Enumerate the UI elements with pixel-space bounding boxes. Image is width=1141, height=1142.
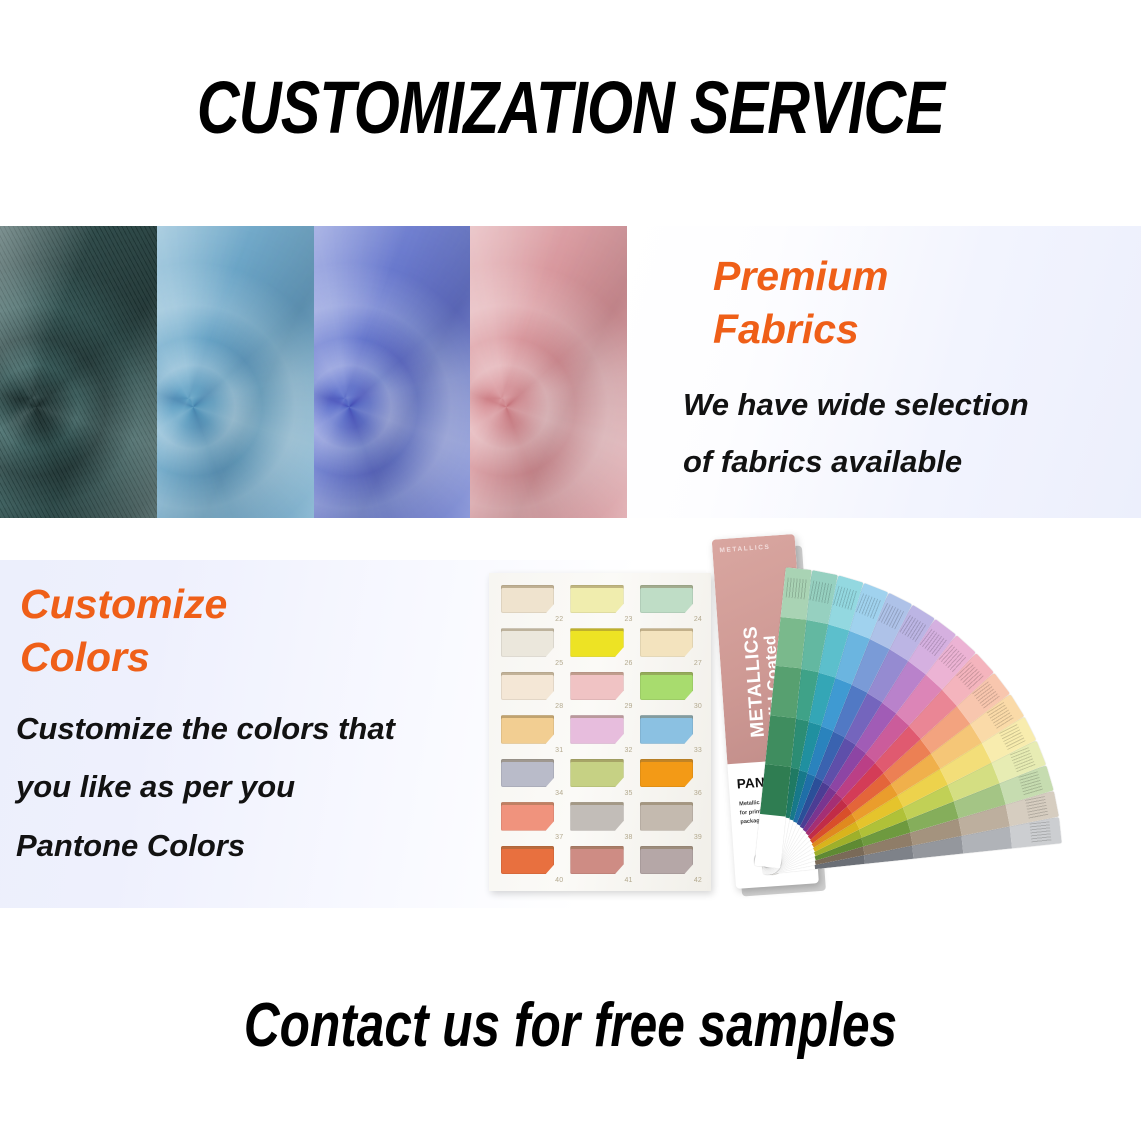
premium-fabrics-description-line2: of fabrics available [683, 433, 1133, 490]
color-chip-29: 29 [568, 670, 632, 709]
fan-deck-color-band [760, 765, 791, 817]
color-chip-number: 32 [624, 747, 632, 754]
color-chip-26: 26 [568, 626, 632, 665]
color-chip-39: 39 [638, 800, 702, 839]
color-chip-37: 37 [499, 800, 563, 839]
color-chip-swatch [640, 585, 693, 613]
fan-deck-color-band [770, 666, 801, 718]
color-chip-swatch [570, 802, 623, 830]
color-chip-36: 36 [638, 757, 702, 796]
color-chip-swatch [570, 715, 623, 743]
premium-fabrics-heading: Premium Fabrics [713, 250, 1133, 356]
page-title: CUSTOMIZATION SERVICE [114, 62, 1027, 152]
color-chip-34: 34 [499, 757, 563, 796]
color-chip-swatch [640, 759, 693, 787]
customize-colors-heading-line2: Colors [20, 631, 440, 684]
color-chip-swatch [570, 672, 623, 700]
color-chip-swatch [640, 715, 693, 743]
color-chip-number: 26 [624, 660, 632, 667]
customize-colors-description-line3: Pantone Colors [16, 817, 486, 875]
fan-deck-blade-code-text [1025, 796, 1049, 820]
color-chip-number: 34 [555, 790, 563, 797]
color-chip-swatch [501, 672, 554, 700]
color-chip-swatch [640, 846, 693, 874]
color-chip-swatch [640, 802, 693, 830]
color-chip-swatch [501, 802, 554, 830]
customize-colors-description-line2: you like as per you [16, 758, 486, 816]
fabric-photo-strip [0, 226, 627, 518]
pantone-fan-deck: METALLICS METALLICS Solid Coated PANTONE… [700, 530, 1141, 920]
fan-deck-blade-code-text [809, 580, 833, 604]
color-chip-swatch [640, 672, 693, 700]
color-chip-32: 32 [568, 713, 632, 752]
color-chip-25: 25 [499, 626, 563, 665]
color-chip-42: 42 [638, 844, 702, 883]
color-chip-number: 41 [624, 877, 632, 884]
color-chip-swatch [570, 628, 623, 656]
footer-cta: Contact us for free samples [114, 985, 1027, 1065]
color-chip-swatch [501, 759, 554, 787]
color-chip-swatch [501, 585, 554, 613]
premium-fabrics-description: We have wide selection of fabrics availa… [683, 376, 1133, 491]
color-chip-33: 33 [638, 713, 702, 752]
fan-deck-blade-stub [754, 814, 785, 868]
fabric-swatch-dark-teal [0, 226, 157, 518]
color-chip-22: 22 [499, 583, 563, 622]
premium-fabrics-heading-line2: Fabrics [713, 303, 1133, 356]
color-chip-swatch [570, 846, 623, 874]
color-chip-number: 23 [624, 616, 632, 623]
fan-deck-color-band [775, 617, 806, 669]
color-chip-number: 22 [555, 616, 563, 623]
customize-colors-description: Customize the colors that you like as pe… [16, 700, 486, 875]
color-chip-number: 28 [555, 703, 563, 710]
color-chip-swatch [640, 628, 693, 656]
premium-fabrics-heading-line1: Premium [713, 250, 1133, 303]
color-chip-number: 29 [624, 703, 632, 710]
color-chip-number: 35 [624, 790, 632, 797]
color-chip-35: 35 [568, 757, 632, 796]
color-chip-swatch [501, 628, 554, 656]
customize-colors-description-line1: Customize the colors that [16, 700, 486, 758]
color-chip-38: 38 [568, 800, 632, 839]
color-chip-number: 40 [555, 877, 563, 884]
fan-deck-blade-code-text [1030, 821, 1052, 843]
premium-fabrics-text-panel: Premium Fabrics We have wide selection o… [627, 226, 1141, 518]
fabric-swatch-blush-pink [470, 226, 627, 518]
color-chip-swatch [570, 585, 623, 613]
color-chip-swatch [570, 759, 623, 787]
fan-deck-blade-code-text [786, 578, 808, 600]
color-chip-swatch [501, 715, 554, 743]
color-chip-27: 27 [638, 626, 702, 665]
premium-fabrics-band: Premium Fabrics We have wide selection o… [0, 226, 1141, 518]
fabric-swatch-light-blue [157, 226, 314, 518]
fabric-swatch-periwinkle [314, 226, 471, 518]
color-chip-30: 30 [638, 670, 702, 709]
color-chip-23: 23 [568, 583, 632, 622]
customize-colors-heading-line1: Customize [20, 578, 440, 631]
color-chip-card: 2223242526272829303132333435363738394041… [489, 573, 711, 891]
color-chip-40: 40 [499, 844, 563, 883]
color-chip-number: 37 [555, 834, 563, 841]
color-chip-number: 38 [624, 834, 632, 841]
fan-deck-color-band [765, 715, 796, 767]
color-chip-number: 31 [555, 747, 563, 754]
customize-colors-heading: Customize Colors [20, 578, 440, 685]
color-chip-41: 41 [568, 844, 632, 883]
color-chip-swatch [501, 846, 554, 874]
color-chip-24: 24 [638, 583, 702, 622]
premium-fabrics-description-line1: We have wide selection [683, 376, 1133, 433]
color-chip-number: 25 [555, 660, 563, 667]
color-chip-31: 31 [499, 713, 563, 752]
color-chip-28: 28 [499, 670, 563, 709]
